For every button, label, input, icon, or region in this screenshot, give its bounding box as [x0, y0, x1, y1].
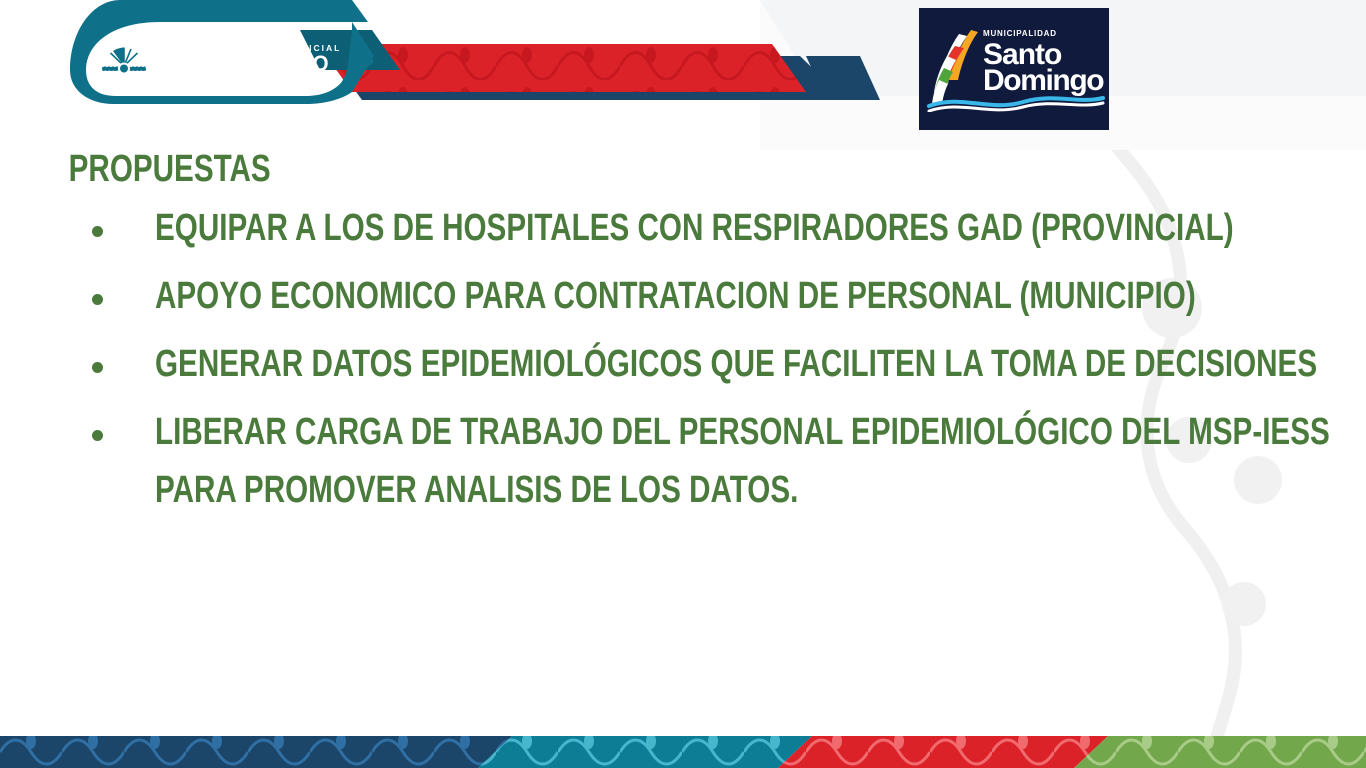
gad-logo-sub: DE LOS TSÁCHILAS [155, 77, 341, 88]
municipal-logo: MUNICIPALIDAD Santo Domingo [919, 8, 1109, 130]
bullet-dot-icon [92, 362, 103, 373]
list-item-label: LIBERAR CARGA DE TRABAJO DEL PERSONAL EP… [155, 404, 1364, 520]
gad-sun-emblem [100, 42, 148, 90]
list-item-label: EQUIPAR A LOS DE HOSPITALES CON RESPIRAD… [155, 200, 1364, 258]
list-item: EQUIPAR A LOS DE HOSPITALES CON RESPIRAD… [0, 200, 1366, 264]
gad-logo-main: SANTO DOMINGO [155, 53, 328, 75]
slide-header: GAD PROVINCIAL SANTO DOMINGO DE LOS TSÁC… [0, 0, 1366, 150]
municipal-logo-text: MUNICIPALIDAD Santo Domingo [983, 30, 1103, 96]
slide-content: PROPUESTAS EQUIPAR A LOS DE HOSPITALES C… [0, 150, 1366, 524]
gad-provincial-logo: GAD PROVINCIAL SANTO DOMINGO DE LOS TSÁC… [100, 42, 341, 90]
list-item: APOYO ECONOMICO PARA CONTRATACION DE PER… [0, 268, 1366, 332]
list-item: LIBERAR CARGA DE TRABAJO DEL PERSONAL EP… [0, 404, 1366, 520]
slide-root: GAD PROVINCIAL SANTO DOMINGO DE LOS TSÁC… [0, 0, 1366, 768]
page-title: PROPUESTAS [0, 150, 1065, 188]
bullet-dot-icon [92, 430, 103, 441]
bullet-dot-icon [92, 294, 103, 305]
list-item-label: APOYO ECONOMICO PARA CONTRATACION DE PER… [155, 268, 1364, 326]
gad-logo-text: GAD PROVINCIAL SANTO DOMINGO DE LOS TSÁC… [155, 44, 341, 89]
municipal-logo-wave [927, 90, 1105, 112]
list-item-label: GENERAR DATOS EPIDEMIOLÓGICOS QUE FACILI… [155, 336, 1364, 394]
bullet-dot-icon [92, 226, 103, 237]
list-item: GENERAR DATOS EPIDEMIOLÓGICOS QUE FACILI… [0, 336, 1366, 400]
proposals-list: EQUIPAR A LOS DE HOSPITALES CON RESPIRAD… [0, 200, 1366, 520]
slide-footer [0, 728, 1366, 768]
municipal-logo-kicker: MUNICIPALIDAD [983, 30, 1103, 38]
